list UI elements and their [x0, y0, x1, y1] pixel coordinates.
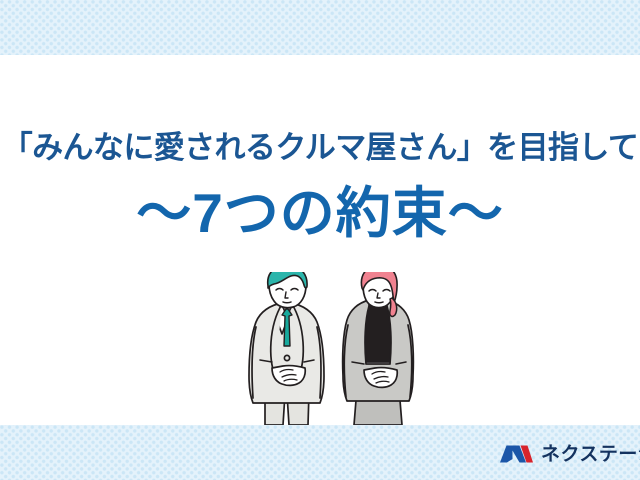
staff-illustration-svg [238, 272, 422, 425]
headline-line-1: 「みんなに愛されるクルマ屋さん」を目指して [0, 126, 640, 170]
headline-line-2: 〜7つの約束〜 [0, 176, 640, 250]
nexstage-logo[interactable]: ネクステージ [500, 439, 640, 469]
female-staff-figure [343, 272, 414, 425]
bowing-staff-illustration [238, 272, 422, 425]
nexstage-n-mark-icon [500, 442, 534, 466]
nexstage-logo-text: ネクステージ [541, 445, 640, 464]
slide-canvas: 「みんなに愛されるクルマ屋さん」を目指して 〜7つの約束〜 [0, 0, 640, 480]
male-staff-figure [249, 272, 324, 425]
